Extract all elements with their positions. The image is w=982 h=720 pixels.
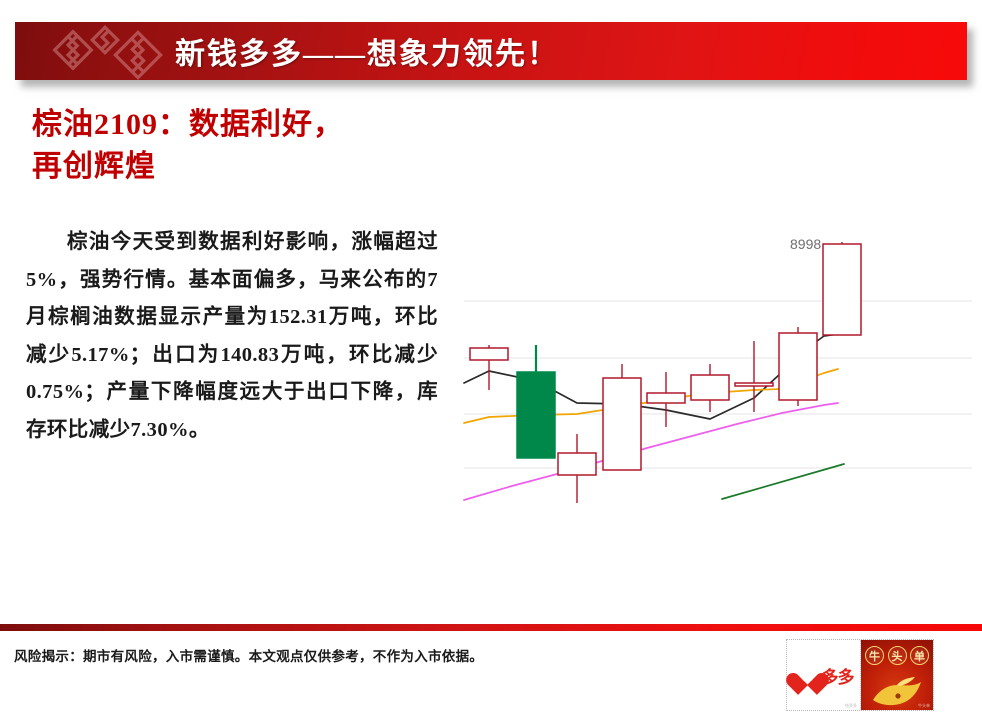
candle-body <box>470 348 508 360</box>
candle-body <box>603 378 641 470</box>
niutoudan-char-1: 头 <box>888 646 907 665</box>
candle <box>603 364 641 470</box>
niutoudan-logo: 牛 头 单 牛头单 <box>861 640 933 710</box>
price-annotation-label: 8998 <box>790 236 821 252</box>
candle-body <box>779 333 817 400</box>
footer-logos: 钱 多多 钱多多 牛 头 单 牛头单 <box>786 639 934 711</box>
page-title-line1: 棕油2109：数据利好， <box>32 104 452 146</box>
heart-label: 钱 <box>801 666 813 683</box>
page-title-line2: 再创辉煌 <box>32 146 452 188</box>
banner-title: 新钱多多——想象力领先！ <box>175 29 559 73</box>
chinese-knot-diamond-pattern-icon <box>37 24 182 80</box>
candle <box>647 372 685 427</box>
candle <box>558 434 596 503</box>
candle <box>517 345 555 458</box>
candle <box>691 364 729 412</box>
candle <box>823 242 861 335</box>
candle <box>470 345 508 390</box>
body-paragraph: 棕油今天受到数据利好影响，涨幅超过5%，强势行情。基本面偏多，马来公布的7月棕榈… <box>26 224 438 449</box>
qianduoduo-logo: 钱 多多 钱多多 <box>787 640 861 710</box>
candle-body <box>517 372 555 458</box>
footer-disclaimer: 风险揭示：期市有风险，入市需谨慎。本文观点仅供参考，不作为入市依据。 <box>14 645 483 665</box>
bull-icon <box>871 669 923 707</box>
chart-candles <box>470 242 861 503</box>
footer-divider <box>0 624 982 631</box>
candle <box>735 341 773 412</box>
niutoudan-char-2: 单 <box>910 646 929 665</box>
chart-line-trend-line-green <box>722 464 844 499</box>
candle-body <box>691 375 729 400</box>
page-title: 棕油2109：数据利好， 再创辉煌 <box>32 104 452 188</box>
niutoudan-char-circles: 牛 头 单 <box>865 646 929 665</box>
niutoudan-tag: 牛头单 <box>918 703 930 709</box>
candle <box>779 327 817 406</box>
candle-body <box>735 383 773 386</box>
candlestick-chart: 8998 <box>452 228 972 520</box>
chart-svg <box>452 228 972 520</box>
candle-body <box>558 453 596 475</box>
header-banner: 新钱多多——想象力领先！ <box>15 22 967 80</box>
candle-body <box>647 393 685 403</box>
heart-icon: 钱 <box>794 663 821 688</box>
niutoudan-char-0: 牛 <box>865 646 884 665</box>
qianduoduo-tag: 钱多多 <box>845 703 857 709</box>
candle-body <box>823 244 861 335</box>
